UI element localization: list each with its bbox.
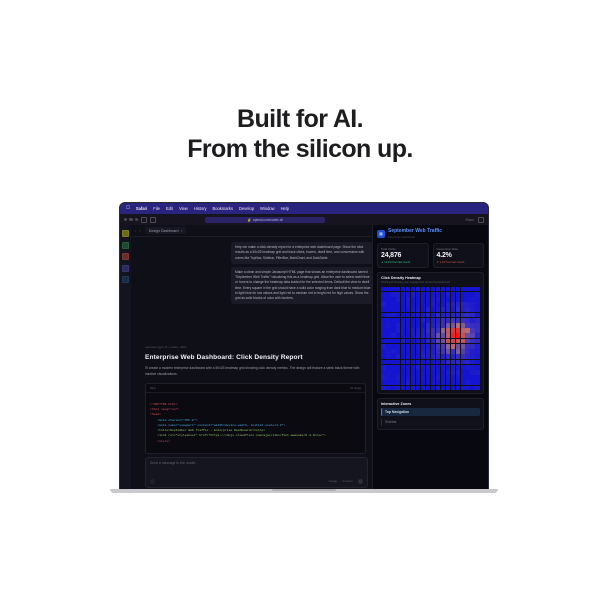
heatmap-cell[interactable] (401, 328, 406, 333)
heatmap-cell[interactable] (451, 318, 456, 323)
heatmap-cell[interactable] (465, 318, 470, 323)
heatmap-cell[interactable] (426, 297, 431, 302)
heatmap-cell[interactable] (441, 287, 446, 292)
heatmap-cell[interactable] (426, 344, 431, 349)
heatmap-cell[interactable] (416, 302, 421, 307)
heatmap-cell[interactable] (426, 333, 431, 338)
heatmap-cell[interactable] (436, 318, 441, 323)
send-icon[interactable] (358, 479, 364, 485)
heatmap-cell[interactable] (475, 370, 480, 375)
heatmap-cell[interactable] (475, 333, 480, 338)
apple-logo-icon[interactable]:  (126, 206, 130, 211)
heatmap-cell[interactable] (426, 307, 431, 312)
heatmap-cell[interactable] (446, 318, 451, 323)
heatmap-cell[interactable] (396, 328, 401, 333)
heatmap-cell[interactable] (461, 333, 466, 338)
heatmap-cell[interactable] (451, 375, 456, 380)
heatmap-cell[interactable] (456, 313, 461, 318)
heatmap-cell[interactable] (416, 386, 421, 391)
heatmap-cell[interactable] (411, 292, 416, 297)
heatmap-cell[interactable] (421, 297, 426, 302)
heatmap-cell[interactable] (401, 313, 406, 318)
heatmap-cell[interactable] (461, 360, 466, 365)
heatmap-cell[interactable] (461, 370, 466, 375)
heatmap-cell[interactable] (401, 386, 406, 391)
heatmap-cell[interactable] (386, 318, 391, 323)
heatmap-cell[interactable] (451, 287, 456, 292)
heatmap-cell[interactable] (436, 386, 441, 391)
heatmap-cell[interactable] (431, 307, 436, 312)
heatmap-cell[interactable] (470, 375, 475, 380)
heatmap-cell[interactable] (386, 339, 391, 344)
heatmap-cell[interactable] (396, 318, 401, 323)
heatmap-cell[interactable] (475, 323, 480, 328)
heatmap-cell[interactable] (396, 302, 401, 307)
heatmap-cell[interactable] (475, 307, 480, 312)
heatmap-cell[interactable] (396, 386, 401, 391)
heatmap-cell[interactable] (456, 323, 461, 328)
heatmap-cell[interactable] (465, 370, 470, 375)
heatmap-cell[interactable] (381, 323, 386, 328)
heatmap-cell[interactable] (411, 307, 416, 312)
nav-arrows[interactable]: ‹ › (135, 228, 142, 233)
heatmap-cell[interactable] (431, 360, 436, 365)
menu-item-history[interactable]: History (194, 206, 207, 211)
heatmap-cell[interactable] (421, 292, 426, 297)
heatmap-cell[interactable] (470, 365, 475, 370)
heatmap-cell[interactable] (426, 354, 431, 359)
heatmap-cell[interactable] (396, 323, 401, 328)
heatmap-cell[interactable] (461, 380, 466, 385)
heatmap-cell[interactable] (426, 339, 431, 344)
heatmap-cell[interactable] (411, 344, 416, 349)
heatmap-cell[interactable] (431, 370, 436, 375)
heatmap-cell[interactable] (411, 323, 416, 328)
heatmap-cell[interactable] (470, 307, 475, 312)
heatmap-cell[interactable] (470, 354, 475, 359)
heatmap-cell[interactable] (381, 370, 386, 375)
heatmap-cell[interactable] (431, 323, 436, 328)
heatmap-cell[interactable] (406, 370, 411, 375)
menu-item-develop[interactable]: Develop (239, 206, 254, 211)
heatmap-cell[interactable] (436, 297, 441, 302)
heatmap-cell[interactable] (406, 375, 411, 380)
heatmap-cell[interactable] (446, 344, 451, 349)
heatmap-cell[interactable] (411, 302, 416, 307)
heatmap-cell[interactable] (431, 297, 436, 302)
heatmap-cell[interactable] (401, 297, 406, 302)
heatmap-cell[interactable] (446, 328, 451, 333)
heatmap-cell[interactable] (465, 287, 470, 292)
heatmap-cell[interactable] (470, 297, 475, 302)
heatmap-cell[interactable] (456, 287, 461, 292)
heatmap-cell[interactable] (421, 349, 426, 354)
heatmap-cell[interactable] (436, 370, 441, 375)
heatmap-cell[interactable] (451, 297, 456, 302)
heatmap-cell[interactable] (461, 375, 466, 380)
heatmap-cell[interactable] (436, 313, 441, 318)
heatmap-cell[interactable] (465, 354, 470, 359)
heatmap-cell[interactable] (401, 318, 406, 323)
heatmap-cell[interactable] (475, 328, 480, 333)
heatmap-cell[interactable] (470, 302, 475, 307)
heatmap-cell[interactable] (456, 349, 461, 354)
heatmap-cell[interactable] (386, 287, 391, 292)
heatmap-cell[interactable] (421, 354, 426, 359)
heatmap-cell[interactable] (446, 302, 451, 307)
heatmap-cell[interactable] (411, 360, 416, 365)
zone-item-top-navigation[interactable]: Top Navigation (381, 408, 480, 416)
heatmap-cell[interactable] (470, 328, 475, 333)
heatmap-cell[interactable] (401, 365, 406, 370)
heatmap-cell[interactable] (470, 339, 475, 344)
heatmap-cell[interactable] (396, 339, 401, 344)
heatmap-cell[interactable] (406, 302, 411, 307)
heatmap-cell[interactable] (416, 323, 421, 328)
heatmap-cell[interactable] (386, 302, 391, 307)
heatmap-cell[interactable] (475, 313, 480, 318)
heatmap-cell[interactable] (401, 380, 406, 385)
heatmap-cell[interactable] (406, 344, 411, 349)
heatmap-cell[interactable] (461, 323, 466, 328)
heatmap-cell[interactable] (391, 349, 396, 354)
heatmap-cell[interactable] (451, 370, 456, 375)
heatmap-cell[interactable] (431, 386, 436, 391)
heatmap-cell[interactable] (401, 302, 406, 307)
heatmap-cell[interactable] (426, 370, 431, 375)
heatmap-cell[interactable] (421, 339, 426, 344)
heatmap-cell[interactable] (411, 313, 416, 318)
heatmap-cell[interactable] (441, 339, 446, 344)
heatmap-cell[interactable] (456, 339, 461, 344)
heatmap-cell[interactable] (391, 380, 396, 385)
heatmap-cell[interactable] (396, 375, 401, 380)
heatmap-cell[interactable] (470, 370, 475, 375)
heatmap-cell[interactable] (451, 339, 456, 344)
heatmap-cell[interactable] (465, 328, 470, 333)
heatmap-cell[interactable] (456, 344, 461, 349)
heatmap-cell[interactable] (421, 365, 426, 370)
heatmap-cell[interactable] (391, 297, 396, 302)
heatmap-cell[interactable] (456, 354, 461, 359)
heatmap-cell[interactable] (411, 318, 416, 323)
heatmap-cell[interactable] (406, 333, 411, 338)
heatmap-cell[interactable] (406, 365, 411, 370)
back-forward-icon[interactable] (150, 217, 156, 223)
heatmap-cell[interactable] (465, 313, 470, 318)
heatmap-cell[interactable] (461, 328, 466, 333)
heatmap-cell[interactable] (451, 313, 456, 318)
heatmap-cell[interactable] (451, 365, 456, 370)
heatmap-cell[interactable] (461, 313, 466, 318)
heatmap-cell[interactable] (406, 380, 411, 385)
heatmap-cell[interactable] (436, 307, 441, 312)
heatmap-cell[interactable] (436, 375, 441, 380)
heatmap-cell[interactable] (421, 333, 426, 338)
heatmap-cell[interactable] (436, 333, 441, 338)
heatmap-cell[interactable] (451, 302, 456, 307)
heatmap-cell[interactable] (456, 297, 461, 302)
heatmap-cell[interactable] (386, 344, 391, 349)
menu-item-help[interactable]: Help (281, 206, 289, 211)
heatmap-cell[interactable] (436, 339, 441, 344)
heatmap-cell[interactable] (381, 344, 386, 349)
heatmap-cell[interactable] (461, 287, 466, 292)
heatmap-cell[interactable] (426, 318, 431, 323)
heatmap-cell[interactable] (411, 287, 416, 292)
heatmap-cell[interactable] (441, 302, 446, 307)
tabs-icon[interactable] (478, 217, 484, 223)
heatmap-cell[interactable] (381, 386, 386, 391)
heatmap-cell[interactable] (475, 297, 480, 302)
heatmap-cell[interactable] (475, 287, 480, 292)
heatmap-cell[interactable] (446, 333, 451, 338)
heatmap-cell[interactable] (411, 339, 416, 344)
composer-placeholder[interactable]: Send a message to the model... (150, 461, 363, 465)
heatmap-cell[interactable] (465, 365, 470, 370)
heatmap-cell[interactable] (386, 328, 391, 333)
heatmap-cell[interactable] (446, 386, 451, 391)
copy-button[interactable]: ⧉ Copy (350, 386, 361, 390)
heatmap-cell[interactable] (441, 307, 446, 312)
close-icon[interactable] (124, 218, 127, 221)
heatmap-cell[interactable] (426, 292, 431, 297)
heatmap-cell[interactable] (456, 302, 461, 307)
heatmap-cell[interactable] (391, 313, 396, 318)
heatmap-cell[interactable] (416, 380, 421, 385)
heatmap-cell[interactable] (406, 318, 411, 323)
heatmap-cell[interactable] (470, 333, 475, 338)
heatmap-cell[interactable] (446, 360, 451, 365)
heatmap-cell[interactable] (386, 365, 391, 370)
heatmap-cell[interactable] (470, 349, 475, 354)
heatmap-cell[interactable] (421, 307, 426, 312)
heatmap-cell[interactable] (475, 302, 480, 307)
heatmap-cell[interactable] (391, 354, 396, 359)
heatmap-cell[interactable] (381, 307, 386, 312)
heatmap-cell[interactable] (451, 328, 456, 333)
heatmap-cell[interactable] (421, 323, 426, 328)
heatmap-cell[interactable] (431, 328, 436, 333)
heatmap-cell[interactable] (436, 354, 441, 359)
heatmap-cell[interactable] (431, 365, 436, 370)
address-bar[interactable]: 🔒 openai.com/codex-cli (205, 217, 325, 223)
heatmap-cell[interactable] (465, 307, 470, 312)
heatmap-cell[interactable] (416, 333, 421, 338)
heatmap-cell[interactable] (381, 375, 386, 380)
heatmap-cell[interactable] (446, 349, 451, 354)
heatmap-cell[interactable] (416, 370, 421, 375)
heatmap-cell[interactable] (421, 380, 426, 385)
heatmap-cell[interactable] (391, 318, 396, 323)
heatmap-cell[interactable] (441, 318, 446, 323)
heatmap-cell[interactable] (416, 375, 421, 380)
heatmap-cell[interactable] (446, 313, 451, 318)
heatmap-cell[interactable] (416, 328, 421, 333)
heatmap-cell[interactable] (456, 360, 461, 365)
heatmap-cell[interactable] (401, 370, 406, 375)
heatmap-cell[interactable] (391, 323, 396, 328)
heatmap-cell[interactable] (401, 339, 406, 344)
heatmap-cell[interactable] (431, 333, 436, 338)
heatmap-cell[interactable] (456, 307, 461, 312)
heatmap-cell[interactable] (456, 318, 461, 323)
share-button[interactable]: Share (465, 218, 474, 222)
heatmap-cell[interactable] (475, 318, 480, 323)
heatmap-cell[interactable] (456, 328, 461, 333)
heatmap-cell[interactable] (391, 370, 396, 375)
heatmap-cell[interactable] (421, 370, 426, 375)
heatmap-cell[interactable] (411, 297, 416, 302)
heatmap-cell[interactable] (431, 375, 436, 380)
heatmap-cell[interactable] (426, 302, 431, 307)
heatmap-cell[interactable] (475, 344, 480, 349)
heatmap-cell[interactable] (436, 360, 441, 365)
heatmap-cell[interactable] (391, 365, 396, 370)
heatmap-cell[interactable] (470, 386, 475, 391)
heatmap-cell[interactable] (431, 380, 436, 385)
heatmap-cell[interactable] (431, 344, 436, 349)
heatmap-cell[interactable] (416, 365, 421, 370)
window-controls[interactable] (124, 218, 138, 221)
heatmap-cell[interactable] (451, 307, 456, 312)
maximize-icon[interactable] (135, 218, 138, 221)
heatmap-cell[interactable] (426, 328, 431, 333)
heatmap-cell[interactable] (451, 386, 456, 391)
heatmap-cell[interactable] (396, 307, 401, 312)
heatmap-cell[interactable] (441, 386, 446, 391)
heatmap-cell[interactable] (386, 297, 391, 302)
heatmap-cell[interactable] (396, 349, 401, 354)
heatmap-cell[interactable] (436, 380, 441, 385)
menu-item-bookmarks[interactable]: Bookmarks (213, 206, 233, 211)
heatmap-cell[interactable] (441, 323, 446, 328)
heatmap-cell[interactable] (426, 287, 431, 292)
heatmap-cell[interactable] (431, 349, 436, 354)
code-icon[interactable] (122, 265, 129, 272)
heatmap-cell[interactable] (416, 354, 421, 359)
heatmap-cell[interactable] (426, 365, 431, 370)
heatmap-cell[interactable] (381, 292, 386, 297)
heatmap-cell[interactable] (451, 360, 456, 365)
heatmap-cell[interactable] (421, 313, 426, 318)
heatmap-cell[interactable] (401, 287, 406, 292)
heatmap-cell[interactable] (446, 365, 451, 370)
heatmap-cell[interactable] (470, 313, 475, 318)
heatmap-cell[interactable] (381, 318, 386, 323)
heatmap-cell[interactable] (401, 292, 406, 297)
heatmap-cell[interactable] (470, 318, 475, 323)
heatmap-cell[interactable] (406, 323, 411, 328)
heatmap-cell[interactable] (441, 365, 446, 370)
heatmap-cell[interactable] (431, 354, 436, 359)
heatmap-cell[interactable] (381, 302, 386, 307)
notes-icon[interactable] (122, 230, 129, 237)
heatmap-cell[interactable] (475, 292, 480, 297)
heatmap-cell[interactable] (451, 292, 456, 297)
heatmap-cell[interactable] (411, 349, 416, 354)
heatmap-cell[interactable] (451, 354, 456, 359)
heatmap-cell[interactable] (391, 333, 396, 338)
heatmap-cell[interactable] (465, 380, 470, 385)
heatmap-cell[interactable] (396, 365, 401, 370)
heatmap-cell[interactable] (411, 370, 416, 375)
message-composer[interactable]: Send a message to the model... Usage Con… (145, 457, 368, 488)
heatmap-cell[interactable] (451, 380, 456, 385)
sidebar-icon[interactable] (141, 217, 147, 223)
heatmap-cell[interactable] (441, 349, 446, 354)
heatmap-cell[interactable] (456, 292, 461, 297)
heatmap-cell[interactable] (431, 302, 436, 307)
heatmap-cell[interactable] (470, 287, 475, 292)
heatmap-grid[interactable] (381, 287, 480, 391)
heatmap-cell[interactable] (416, 339, 421, 344)
heatmap-cell[interactable] (461, 307, 466, 312)
heatmap-cell[interactable] (465, 323, 470, 328)
heatmap-cell[interactable] (426, 360, 431, 365)
heatmap-cell[interactable] (381, 349, 386, 354)
heatmap-cell[interactable] (446, 297, 451, 302)
heatmap-cell[interactable] (401, 307, 406, 312)
heatmap-cell[interactable] (381, 328, 386, 333)
heatmap-cell[interactable] (406, 328, 411, 333)
heatmap-cell[interactable] (456, 370, 461, 375)
heatmap-cell[interactable] (406, 307, 411, 312)
heatmap-cell[interactable] (441, 297, 446, 302)
heatmap-cell[interactable] (396, 287, 401, 292)
heatmap-cell[interactable] (441, 375, 446, 380)
heatmap-cell[interactable] (441, 380, 446, 385)
heatmap-cell[interactable] (465, 344, 470, 349)
paperclip-icon[interactable] (150, 479, 155, 484)
heatmap-cell[interactable] (386, 333, 391, 338)
heatmap-cell[interactable] (441, 333, 446, 338)
heatmap-cell[interactable] (465, 360, 470, 365)
terminal-icon[interactable] (122, 242, 129, 249)
heatmap-cell[interactable] (426, 323, 431, 328)
heatmap-cell[interactable] (470, 323, 475, 328)
heatmap-cell[interactable] (386, 386, 391, 391)
heatmap-cell[interactable] (401, 333, 406, 338)
heatmap-cell[interactable] (421, 302, 426, 307)
heatmap-cell[interactable] (396, 313, 401, 318)
heatmap-cell[interactable] (416, 349, 421, 354)
heatmap-cell[interactable] (411, 386, 416, 391)
heatmap-cell[interactable] (465, 339, 470, 344)
heatmap-cell[interactable] (411, 380, 416, 385)
heatmap-cell[interactable] (386, 349, 391, 354)
heatmap-cell[interactable] (470, 380, 475, 385)
heatmap-cell[interactable] (396, 344, 401, 349)
heatmap-cell[interactable] (391, 375, 396, 380)
browser-icon[interactable] (122, 276, 129, 283)
heatmap-cell[interactable] (436, 287, 441, 292)
heatmap-cell[interactable] (391, 287, 396, 292)
menu-item-view[interactable]: View (179, 206, 188, 211)
heatmap-cell[interactable] (401, 323, 406, 328)
heatmap-cell[interactable] (426, 386, 431, 391)
heatmap-cell[interactable] (401, 375, 406, 380)
heatmap-cell[interactable] (451, 344, 456, 349)
heatmap-cell[interactable] (401, 349, 406, 354)
heatmap-cell[interactable] (391, 302, 396, 307)
heatmap-cell[interactable] (381, 333, 386, 338)
heatmap-cell[interactable] (386, 360, 391, 365)
heatmap-cell[interactable] (475, 349, 480, 354)
heatmap-cell[interactable] (431, 313, 436, 318)
heatmap-cell[interactable] (406, 349, 411, 354)
heatmap-cell[interactable] (421, 287, 426, 292)
